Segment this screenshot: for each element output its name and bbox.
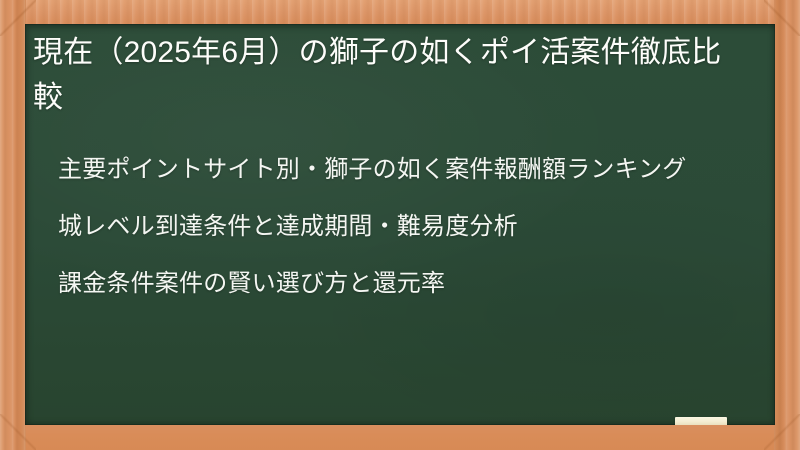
frame-rail-top: [0, 0, 800, 24]
list-item: 課金条件案件の賢い選び方と還元率: [58, 263, 748, 305]
bullet-list: 主要ポイントサイト別・獅子の如く案件報酬額ランキング 城レベル到達条件と達成期間…: [58, 149, 748, 305]
chalkboard-surface: 現在（2025年6月）の獅子の如くポイ活案件徹底比較 主要ポイントサイト別・獅子…: [25, 24, 775, 425]
page-title: 現在（2025年6月）の獅子の如くポイ活案件徹底比較: [33, 30, 733, 120]
frame-rail-bottom: [0, 425, 800, 450]
frame-rail-left: [0, 0, 26, 450]
list-item: 主要ポイントサイト別・獅子の如く案件報酬額ランキング: [58, 149, 748, 191]
chalkboard-content: 現在（2025年6月）の獅子の如くポイ活案件徹底比較 主要ポイントサイト別・獅子…: [25, 24, 775, 425]
frame-rail-right: [774, 0, 800, 450]
chalk-stick-icon: [675, 417, 727, 425]
list-item: 城レベル到達条件と達成期間・難易度分析: [58, 206, 748, 248]
slide-wooden-frame: 現在（2025年6月）の獅子の如くポイ活案件徹底比較 主要ポイントサイト別・獅子…: [0, 0, 800, 450]
